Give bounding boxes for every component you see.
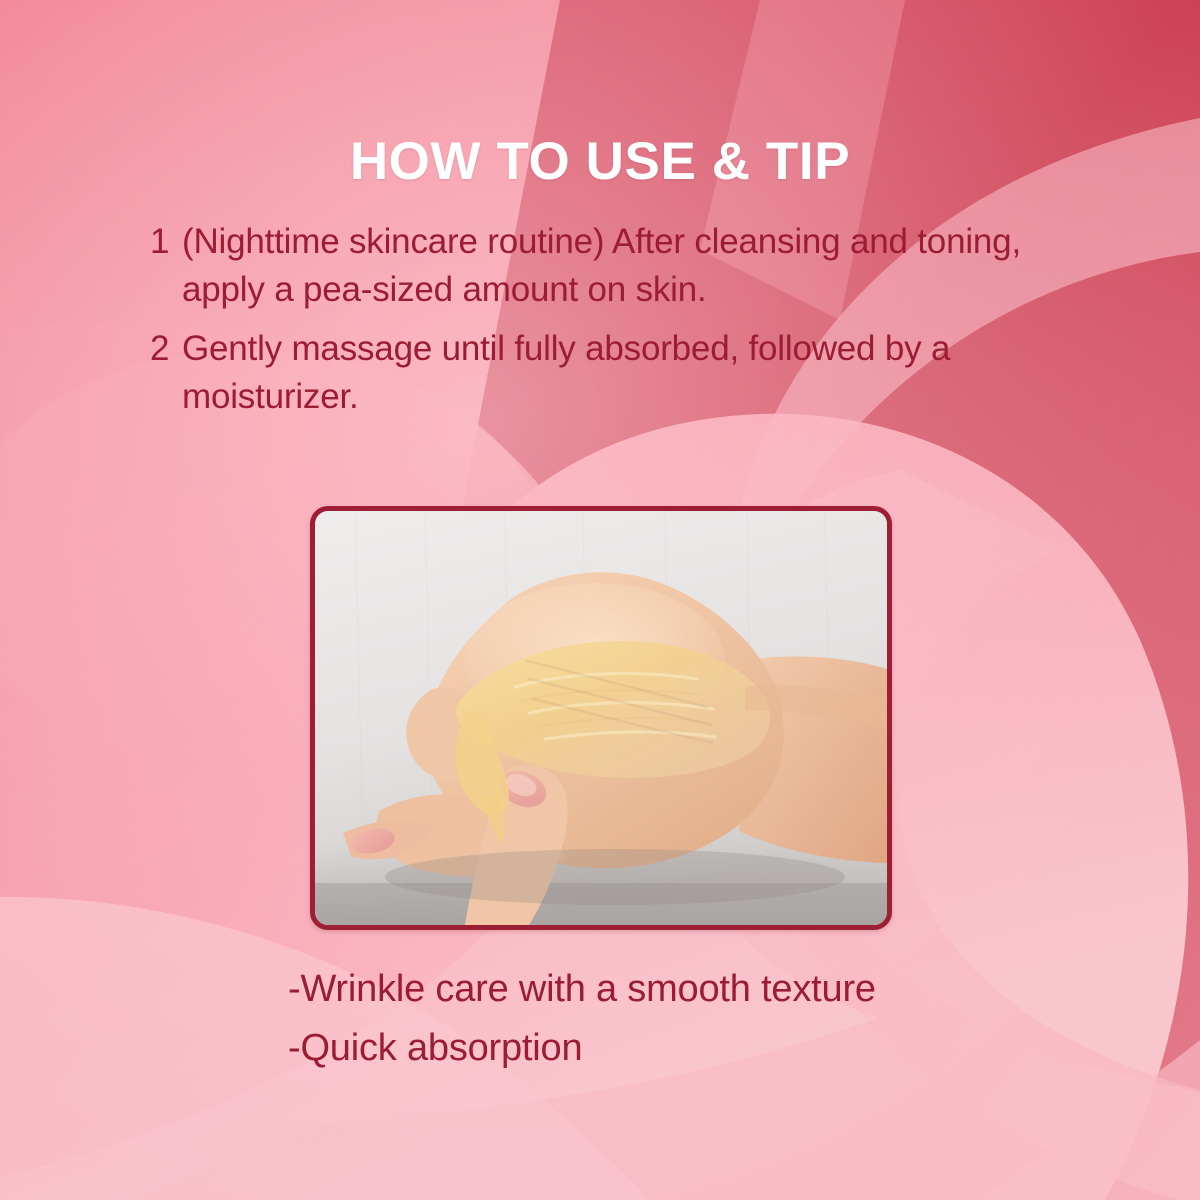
page-title: HOW TO USE & TIP bbox=[0, 134, 1200, 190]
list-item: 1 (Nighttime skincare routine) After cle… bbox=[150, 218, 1100, 315]
demo-photo-frame bbox=[310, 506, 892, 930]
poster-canvas: HOW TO USE & TIP 1 (Nighttime skincare r… bbox=[0, 0, 1200, 1200]
step-text: (Nighttime skincare routine) After clean… bbox=[182, 218, 1100, 315]
step-number: 2 bbox=[150, 325, 182, 373]
step-text: Gently massage until fully absorbed, fol… bbox=[182, 325, 1100, 422]
list-item: 2 Gently massage until fully absorbed, f… bbox=[150, 325, 1100, 422]
list-item: -Quick absorption bbox=[288, 1019, 1148, 1078]
step-number: 1 bbox=[150, 218, 182, 266]
demo-photo bbox=[315, 511, 887, 925]
benefits-list: -Wrinkle care with a smooth texture -Qui… bbox=[288, 960, 1148, 1078]
poster-content: HOW TO USE & TIP 1 (Nighttime skincare r… bbox=[0, 0, 1200, 1200]
list-item: -Wrinkle care with a smooth texture bbox=[288, 960, 1148, 1019]
usage-steps-list: 1 (Nighttime skincare routine) After cle… bbox=[150, 218, 1100, 431]
hand-with-serum-illustration bbox=[315, 511, 887, 925]
